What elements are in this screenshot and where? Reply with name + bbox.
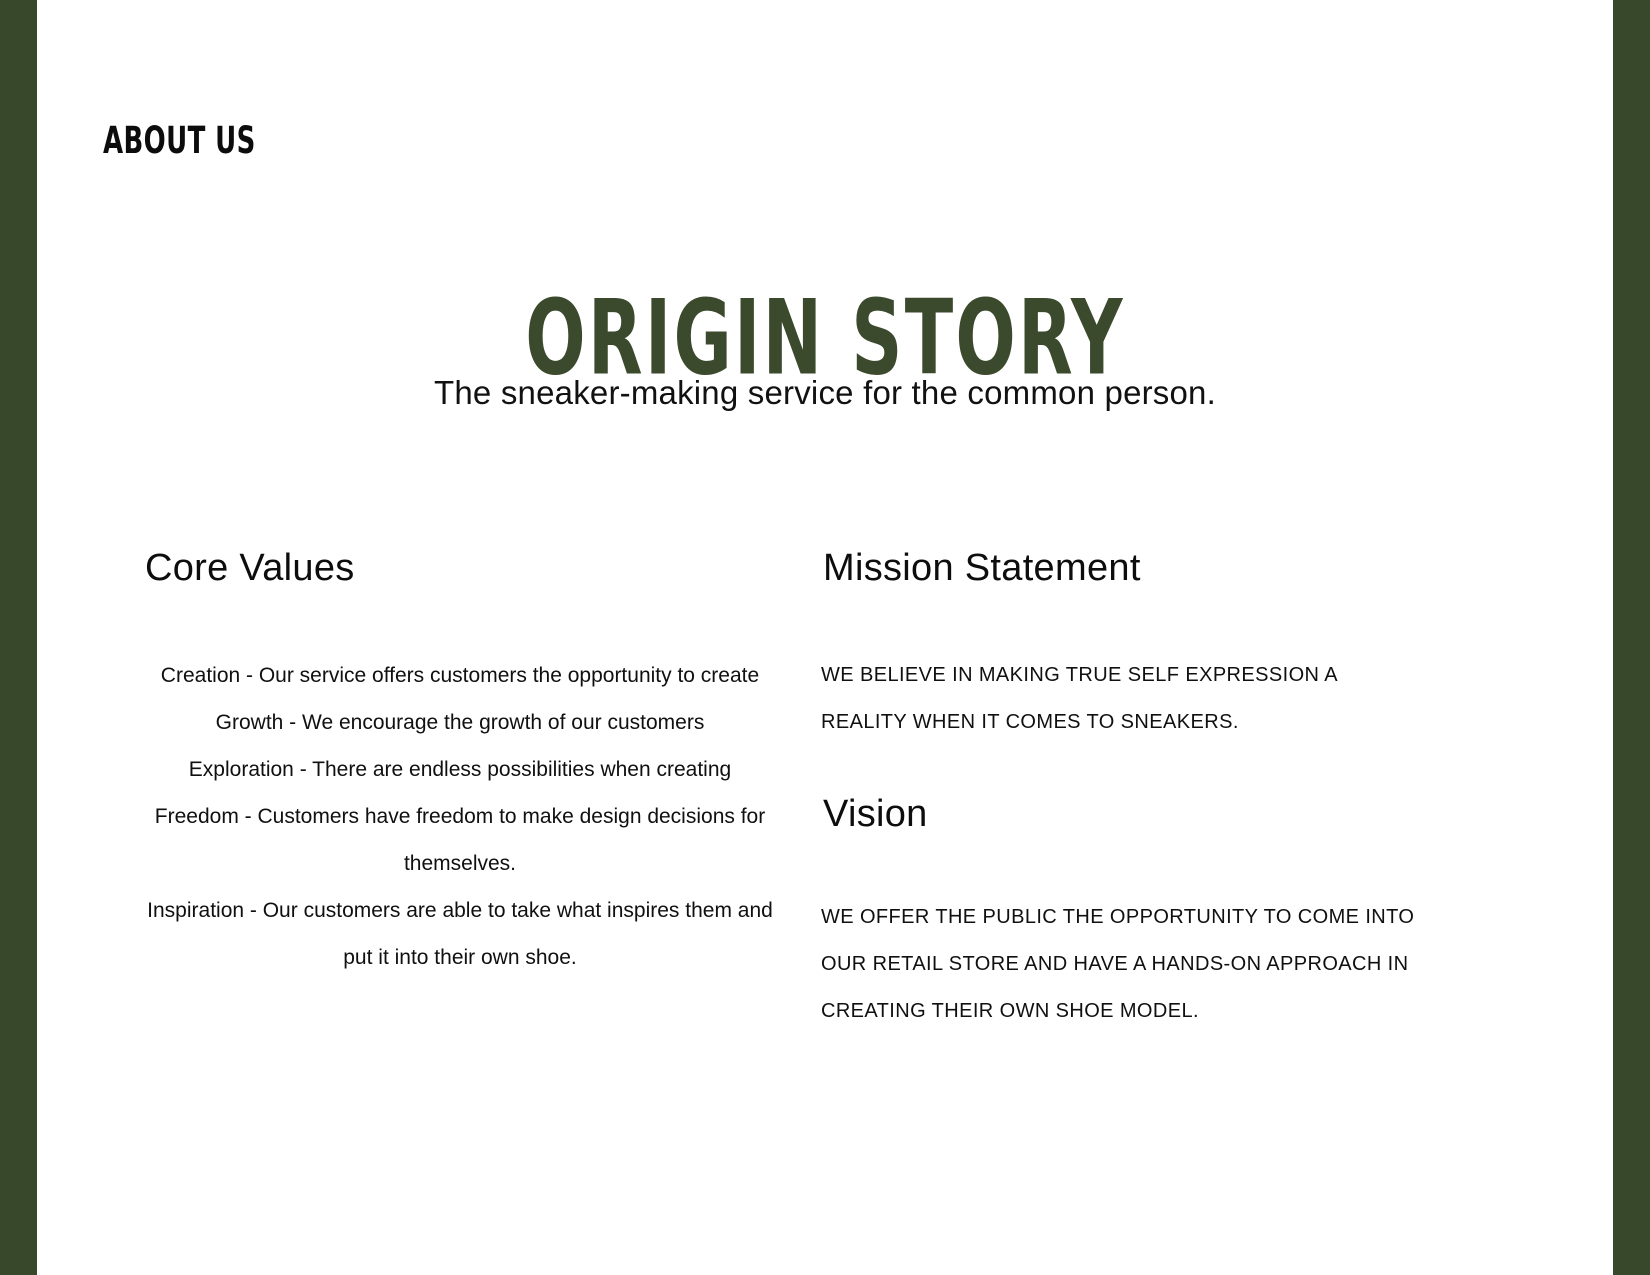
- list-item: Growth - We encourage the growth of our …: [141, 699, 779, 746]
- core-values-list: Creation - Our service offers customers …: [141, 652, 779, 981]
- page-tagline: The sneaker-making service for the commo…: [37, 372, 1613, 415]
- core-values-column: Core Values Creation - Our service offer…: [141, 548, 779, 981]
- mission-statement-heading: Mission Statement: [821, 548, 1421, 590]
- vision-heading: Vision: [821, 794, 1421, 836]
- core-values-heading: Core Values: [141, 548, 779, 590]
- page-canvas: ABOUT US ORIGIN STORY The sneaker-making…: [37, 0, 1613, 1275]
- left-accent-bar: [0, 0, 37, 1275]
- mission-statement-text: WE BELIEVE IN MAKING TRUE SELF EXPRESSIO…: [821, 652, 1421, 746]
- list-item: Freedom - Customers have freedom to make…: [141, 793, 779, 887]
- list-item: Inspiration - Our customers are able to …: [141, 887, 779, 981]
- mission-statement-body: WE BELIEVE IN MAKING TRUE SELF EXPRESSIO…: [821, 652, 1421, 746]
- section-kicker: ABOUT US: [103, 122, 256, 159]
- mission-vision-column: Mission Statement WE BELIEVE IN MAKING T…: [821, 548, 1421, 1036]
- content-columns: Core Values Creation - Our service offer…: [37, 548, 1613, 1036]
- list-item: Exploration - There are endless possibil…: [141, 746, 779, 793]
- list-item: Creation - Our service offers customers …: [141, 652, 779, 699]
- about-us-page: ABOUT US ORIGIN STORY The sneaker-making…: [0, 0, 1650, 1275]
- vision-body: WE OFFER THE PUBLIC THE OPPORTUNITY TO C…: [821, 894, 1421, 1036]
- vision-text: WE OFFER THE PUBLIC THE OPPORTUNITY TO C…: [821, 894, 1421, 1036]
- right-accent-bar: [1613, 0, 1650, 1275]
